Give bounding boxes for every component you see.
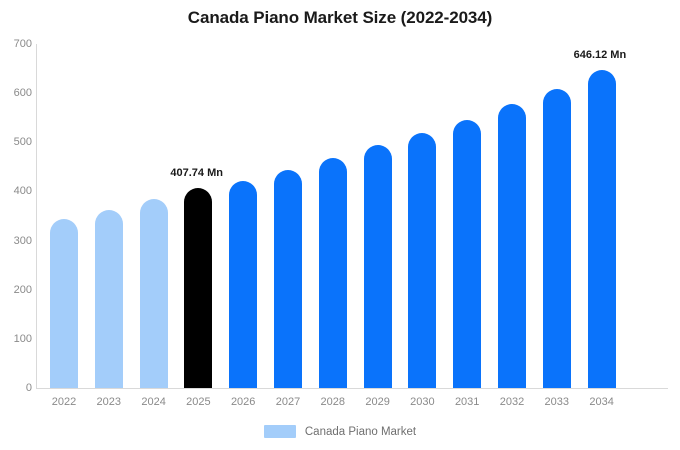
- bar-2034[interactable]: [588, 70, 616, 388]
- bar-2030[interactable]: [408, 133, 436, 388]
- y-tick-label: 0: [2, 382, 32, 394]
- y-tick-label: 300: [2, 235, 32, 247]
- y-tick-label: 400: [2, 185, 32, 197]
- bar-2029[interactable]: [364, 145, 392, 388]
- x-tick-label-2022: 2022: [42, 396, 86, 409]
- x-tick-label-2033: 2033: [535, 396, 579, 409]
- chart-title: Canada Piano Market Size (2022-2034): [0, 8, 680, 28]
- chart-legend: Canada Piano Market: [0, 425, 680, 438]
- chart-container: Canada Piano Market Size (2022-2034) 010…: [0, 0, 680, 450]
- x-tick-label-2027: 2027: [266, 396, 310, 409]
- x-tick-label-2024: 2024: [132, 396, 176, 409]
- y-tick-label: 600: [2, 87, 32, 99]
- legend-swatch-canada-piano-market: [264, 425, 296, 438]
- bar-2022[interactable]: [50, 219, 78, 388]
- y-axis-tick-labels: 0100200300400500600700: [0, 0, 32, 450]
- x-tick-label-2031: 2031: [445, 396, 489, 409]
- y-tick-label: 100: [2, 333, 32, 345]
- x-tick-label-2030: 2030: [400, 396, 444, 409]
- x-tick-label-2029: 2029: [356, 396, 400, 409]
- bar-2026[interactable]: [229, 181, 257, 388]
- bar-2028[interactable]: [319, 158, 347, 388]
- x-tick-label-2025: 2025: [176, 396, 220, 409]
- bar-2025[interactable]: [184, 188, 212, 388]
- bar-2031[interactable]: [453, 120, 481, 388]
- bar-2033[interactable]: [543, 89, 571, 388]
- x-axis-line: [36, 388, 668, 389]
- bar-2023[interactable]: [95, 210, 123, 388]
- y-tick-label: 700: [2, 38, 32, 50]
- plot-area: [36, 44, 668, 388]
- value-label-2025: 407.74 Mn: [170, 167, 223, 180]
- x-tick-label-2034: 2034: [580, 396, 624, 409]
- value-label-2034: 646.12 Mn: [574, 49, 627, 62]
- legend-label-canada-piano-market: Canada Piano Market: [305, 426, 416, 438]
- x-tick-label-2028: 2028: [311, 396, 355, 409]
- bar-2032[interactable]: [498, 104, 526, 388]
- x-tick-label-2032: 2032: [490, 396, 534, 409]
- y-tick-label: 200: [2, 284, 32, 296]
- bar-2027[interactable]: [274, 170, 302, 388]
- x-tick-label-2026: 2026: [221, 396, 265, 409]
- bar-2024[interactable]: [140, 199, 168, 388]
- x-tick-label-2023: 2023: [87, 396, 131, 409]
- y-tick-label: 500: [2, 136, 32, 148]
